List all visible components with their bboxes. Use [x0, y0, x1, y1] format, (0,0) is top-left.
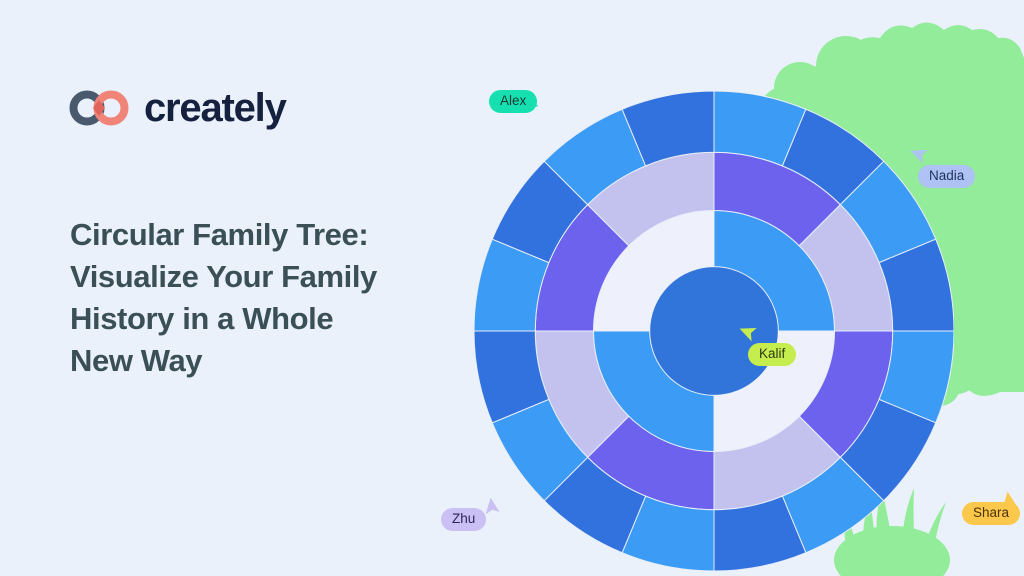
- bush-lobe-icon: [962, 352, 1006, 396]
- headline-line-4: New Way: [70, 340, 470, 382]
- cursor-name-label[interactable]: Kalif: [748, 343, 796, 366]
- bush-lobe-icon: [980, 68, 1024, 124]
- circular-family-tree-chart[interactable]: [474, 91, 954, 571]
- page-title: Circular Family Tree: Visualize Your Fam…: [70, 214, 470, 383]
- cursor-name-label[interactable]: Alex: [489, 90, 537, 113]
- bush-lobe-icon: [816, 36, 876, 96]
- headline-line-3: History in a Whole: [70, 298, 470, 340]
- cursor-name-label[interactable]: Shara: [962, 502, 1020, 525]
- headline-line-1: Circular Family Tree:: [70, 214, 470, 256]
- headline-line-2: Visualize Your Family: [70, 256, 470, 298]
- slide-canvas: creately Circular Family Tree: Visualize…: [0, 0, 1024, 576]
- cursor-pointer-icon: [533, 103, 555, 132]
- creately-infinity-rings-icon: [68, 90, 130, 126]
- sunburst-svg[interactable]: [474, 91, 954, 571]
- brand-logo[interactable]: creately: [68, 88, 286, 128]
- cursor-pointer-icon: [487, 496, 509, 525]
- cursor-name-label[interactable]: Nadia: [918, 165, 975, 188]
- cursor-name-label[interactable]: Zhu: [441, 508, 486, 531]
- brand-wordmark: creately: [144, 88, 286, 128]
